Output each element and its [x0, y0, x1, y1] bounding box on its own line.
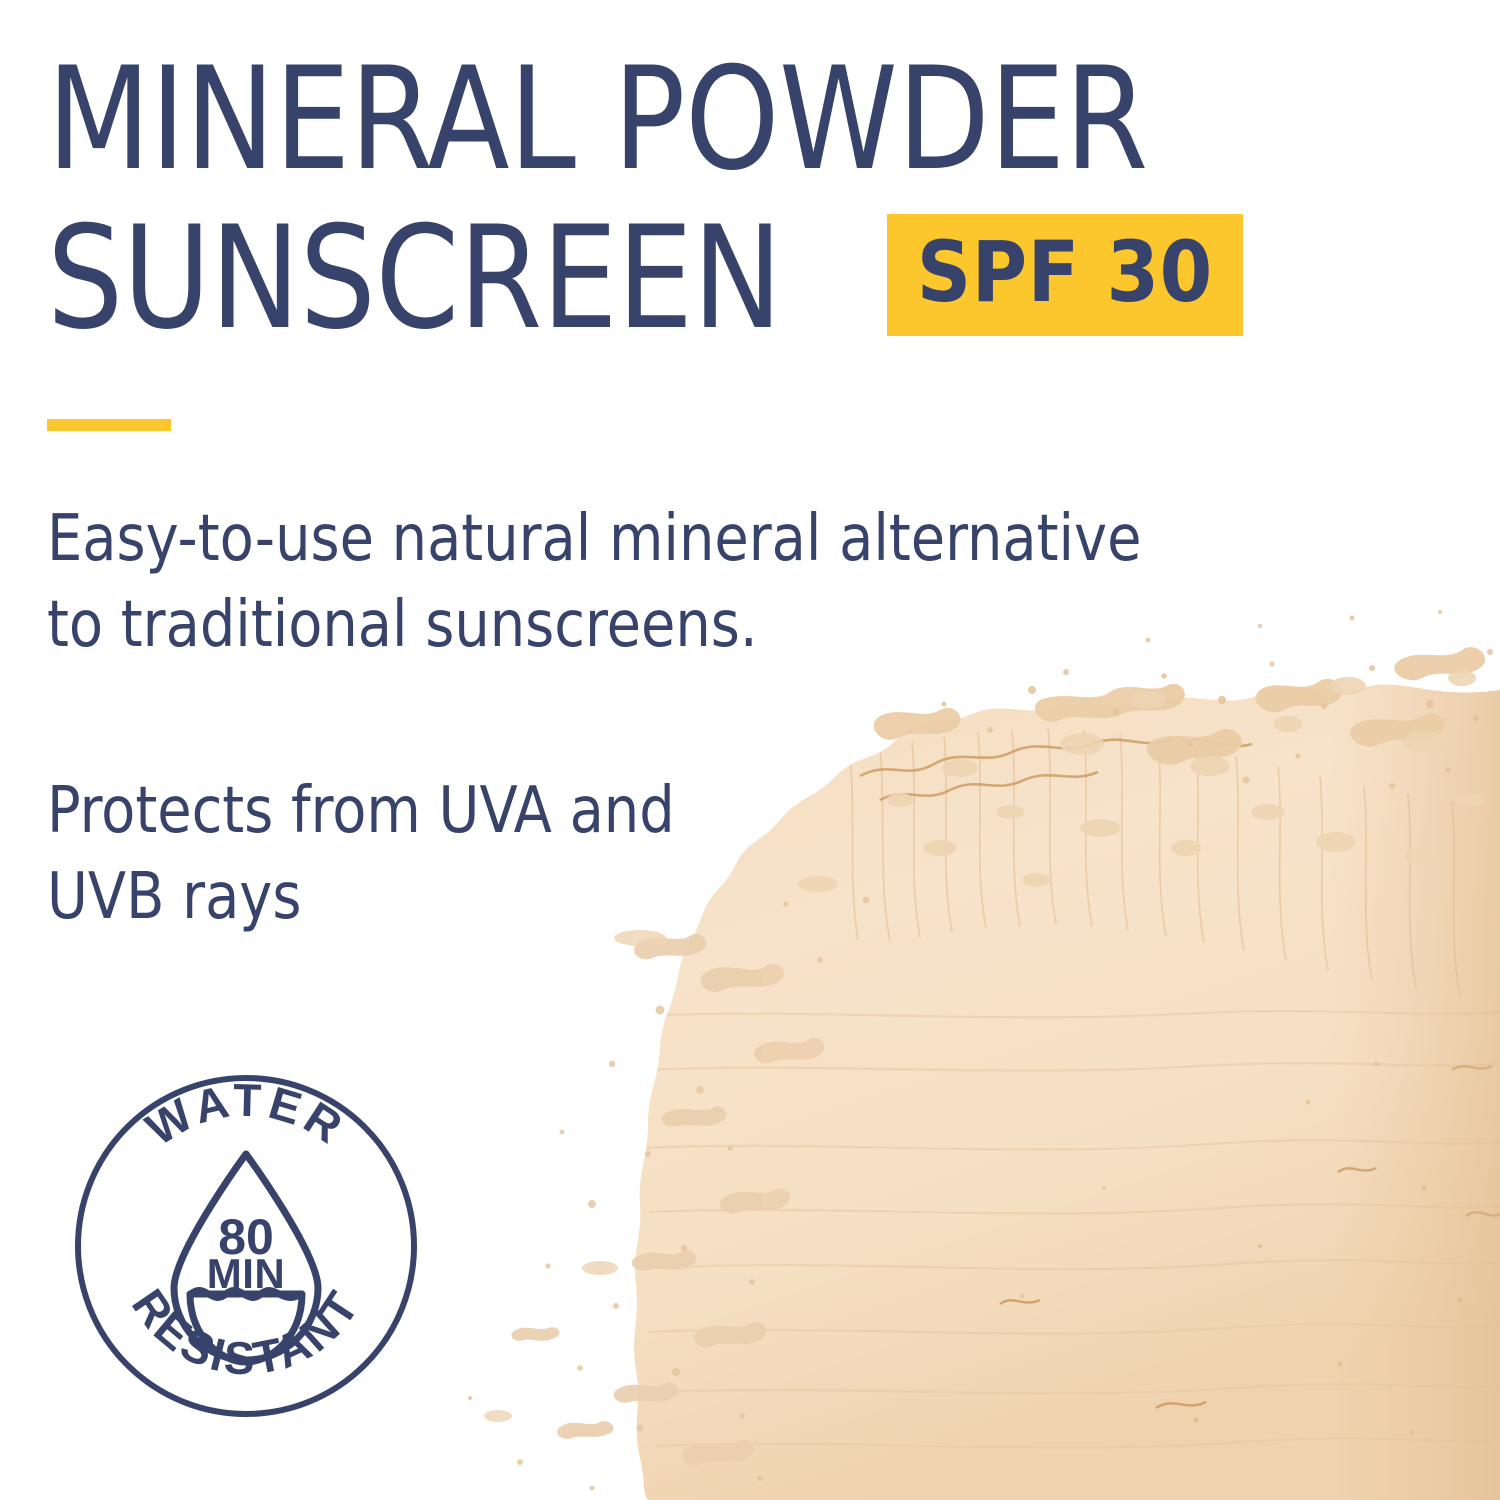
- spf-badge: SPF 30: [887, 214, 1243, 336]
- headline-line-1: MINERAL POWDER: [47, 40, 1148, 199]
- headline-line-2: SUNSCREEN: [47, 199, 782, 358]
- product-feature-card: MINERAL POWDER SUNSCREEN SPF 30 Easy-to-…: [0, 0, 1500, 1500]
- headline-row-1: MINERAL POWDER: [47, 40, 1297, 199]
- water-resistant-badge: WATER RESISTANT 80 MIN: [72, 1072, 420, 1420]
- yellow-divider-rule: [47, 419, 171, 431]
- badge-top-arc-text: WATER: [137, 1074, 355, 1156]
- badge-duration-unit: MIN: [207, 1250, 286, 1297]
- body-paragraph-2: Protects from UVA and UVB rays: [47, 768, 920, 941]
- body-paragraph-1: Easy-to-use natural mineral alternative …: [47, 496, 1279, 669]
- headline-row-2: SUNSCREEN SPF 30: [47, 199, 1297, 358]
- headline-block: MINERAL POWDER SUNSCREEN SPF 30: [47, 40, 1297, 358]
